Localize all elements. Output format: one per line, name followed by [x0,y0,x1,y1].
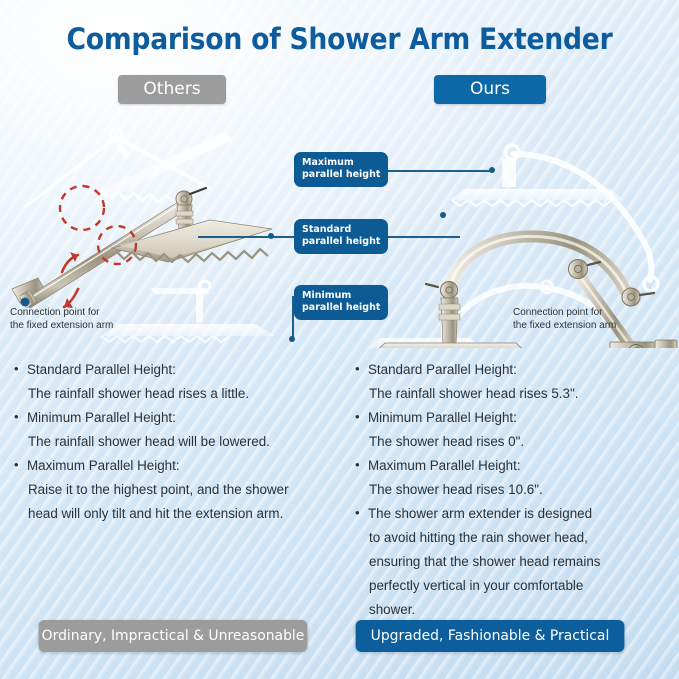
bullet-detail: to avoid hitting the rain shower head, [368,526,673,550]
bullet-heading: Minimum Parallel Height: [27,406,344,430]
callout-standard-parallel-height: Standard parallel height [294,219,388,254]
callout-minimum-line2: parallel height [302,302,380,313]
left-ghost-maximum [25,129,232,207]
bullet-heading: Minimum Parallel Height: [368,406,673,430]
footer-badge-ours: Upgraded, Fashionable & Practical [356,620,625,652]
list-item: Standard Parallel Height: The rainfall s… [14,358,344,406]
list-item: Standard Parallel Height: The rainfall s… [355,358,673,406]
bullet-detail: The rainfall shower head will be lowered… [27,430,344,454]
list-item: The shower arm extender is designed to a… [355,502,673,622]
bullet-detail: Raise it to the highest point, and the s… [27,478,344,502]
connector-dot-standard-right [440,212,446,218]
bullet-heading: Standard Parallel Height: [368,358,673,382]
others-feature-list: Standard Parallel Height: The rainfall s… [14,358,344,526]
ours-feature-list: Standard Parallel Height: The rainfall s… [355,358,673,622]
bullet-detail: perfectly vertical in your comfortable [368,574,673,598]
infographic-page: Comparison of Shower Arm Extender Others… [0,0,679,679]
connector-line-standard-left [198,236,294,238]
bullet-detail: The rainfall shower head rises 5.3". [368,382,673,406]
bullet-detail: The rainfall shower head rises a little. [27,382,344,406]
caption-right-line1: Connection point for [513,307,603,318]
callout-maximum-parallel-height: Maximum parallel height [294,152,388,187]
list-item: Maximum Parallel Height: Raise it to the… [14,454,344,526]
page-title: Comparison of Shower Arm Extender [27,22,652,56]
caption-left-line2: the fixed extension arm [10,320,113,331]
bullet-detail: The shower head rises 10.6". [368,478,673,502]
footer-badge-others: Ordinary, Impractical & Unreasonable [39,620,308,652]
callout-maximum-line2: parallel height [302,169,380,180]
caption-left-line1: Connection point for [10,307,100,318]
bullet-heading: The shower arm extender is designed [368,502,673,526]
list-item: Maximum Parallel Height: The shower head… [355,454,673,502]
bullet-detail: ensuring that the shower head remains [368,550,673,574]
callout-maximum-line1: Maximum [302,157,354,168]
left-main-arm [12,188,272,308]
list-item: Minimum Parallel Height: The shower head… [355,406,673,454]
callout-minimum-line1: Minimum [302,290,351,301]
caption-right-connection-point: Connection point for the fixed extension… [513,307,616,332]
connector-dot-minimum-bottom [289,336,295,342]
connector-dot-standard-left [268,233,274,239]
caption-left-connection-point: Connection point for the fixed extension… [10,307,113,332]
bullet-heading: Maximum Parallel Height: [368,454,673,478]
left-connection-dot [21,298,30,307]
caption-right-line2: the fixed extension arm [513,320,616,331]
right-ghost-maximum [450,145,658,291]
header-badge-ours: Ours [434,75,546,104]
connector-dot-maximum [489,167,495,173]
bullet-detail: The shower head rises 0". [368,430,673,454]
callout-standard-line1: Standard [302,224,351,235]
header-badge-others: Others [118,75,226,104]
callout-minimum-parallel-height: Minimum parallel height [294,285,388,320]
bullet-detail: head will only tilt and hit the extensio… [27,502,344,526]
bullet-detail: shower. [368,598,673,622]
left-ghost-minimum [100,281,275,342]
bullet-heading: Standard Parallel Height: [27,358,344,382]
rotation-arrow-down [64,289,78,308]
bullet-heading: Maximum Parallel Height: [27,454,344,478]
list-item: Minimum Parallel Height: The rainfall sh… [14,406,344,454]
collision-marker-upper [60,186,104,230]
callout-standard-line2: parallel height [302,236,380,247]
